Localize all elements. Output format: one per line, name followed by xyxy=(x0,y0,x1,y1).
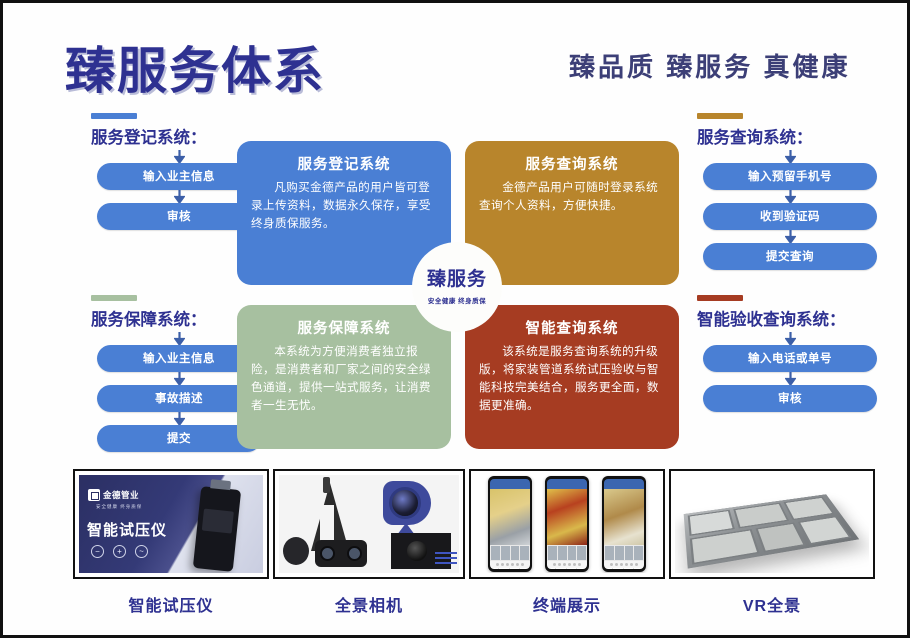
photo-smart-pressure-tester: 金德管业 安全健康 终身质保 智能试压仪 − + ~ xyxy=(79,475,263,573)
flow-service-registration: 服务登记系统： 输入业主信息 审核 xyxy=(91,113,261,230)
photo-vr-panorama xyxy=(675,475,869,573)
card-title: 智能查询系统 xyxy=(479,317,665,338)
card-service-query[interactable]: 服务查询系统 金德产品用户可随时登录系统查询个人资料，方便快捷。 xyxy=(465,141,679,285)
flow-step-pill[interactable]: 输入预留手机号 xyxy=(703,163,877,190)
logo-mark-icon xyxy=(88,489,100,501)
tagline: 臻品质 臻服务 真健康 xyxy=(569,47,850,84)
photo-cell-panoramic-camera[interactable]: 全景相机 xyxy=(273,469,465,616)
floorplan-3d-icon xyxy=(684,494,860,568)
tripod-head-icon xyxy=(323,477,330,493)
flow-step-pill[interactable]: 输入电话或单号 xyxy=(703,345,877,372)
poster-canvas: 臻服务体系 臻品质 臻服务 真健康 服务登记系统： 输入业主信息 审核 服务查询… xyxy=(0,0,910,638)
photo-cell-smart-pressure-tester[interactable]: 金德管业 安全健康 终身质保 智能试压仪 − + ~ 智能试压仪 xyxy=(73,469,269,616)
flow-steps: 输入预留手机号 收到验证码 提交查询 xyxy=(703,150,877,270)
phone-mockup xyxy=(545,476,589,572)
flow-title: 智能验收查询系统： xyxy=(697,306,877,330)
accent-bar xyxy=(91,113,137,119)
brand-logo: 金德管业 xyxy=(88,489,139,501)
center-brand-badge: 臻服务 安全健康 终身质保 xyxy=(419,249,495,325)
arrow-down-icon xyxy=(703,150,877,163)
arrow-down-icon xyxy=(703,332,877,345)
accent-bar xyxy=(697,113,743,119)
card-body: 凡购买金德产品的用户皆可登录上传资料，数据永久保存，享受终身质保服务。 xyxy=(251,179,437,233)
photo-cell-vr-panorama[interactable]: VR全景 xyxy=(669,469,875,616)
ad-icon-group: − + ~ xyxy=(91,545,148,558)
phone-mockup xyxy=(488,476,532,572)
photo-label: 全景相机 xyxy=(273,592,465,616)
photo-frame xyxy=(469,469,665,579)
center-subtitle: 安全健康 终身质保 xyxy=(428,295,486,305)
ad-headline: 智能试压仪 xyxy=(87,519,167,540)
center-title: 臻服务 xyxy=(427,270,487,289)
card-body: 金德产品用户可随时登录系统查询个人资料，方便快捷。 xyxy=(479,179,665,215)
card-body: 本系统为方便消费者独立报险，是消费者和厂家之间的安全绿色通道，提供一站式服务，让… xyxy=(251,343,437,415)
flow-service-query: 服务查询系统： 输入预留手机号 收到验证码 提交查询 xyxy=(697,113,877,270)
flow-step-pill[interactable]: 收到验证码 xyxy=(703,203,877,230)
card-title: 服务查询系统 xyxy=(479,153,665,174)
photo-frame xyxy=(273,469,465,579)
accent-bar xyxy=(697,295,743,301)
card-body: 该系统是服务查询系统的升级版，将家装管道系统试压验收与智能科技完美结合，服务更全… xyxy=(479,343,665,415)
minus-icon: − xyxy=(91,545,104,558)
card-title: 服务登记系统 xyxy=(251,153,437,174)
photo-frame xyxy=(669,469,875,579)
flow-steps: 输入电话或单号 审核 xyxy=(703,332,877,412)
wave-icon: ~ xyxy=(135,545,148,558)
photo-label: 智能试压仪 xyxy=(73,592,269,616)
flow-smart-acceptance-query: 智能验收查询系统： 输入电话或单号 审核 xyxy=(697,295,877,412)
card-title: 服务保障系统 xyxy=(251,317,437,338)
arrow-down-icon xyxy=(703,230,877,243)
photo-label: 终端展示 xyxy=(469,592,665,616)
accent-bar xyxy=(91,295,137,301)
photo-panoramic-camera xyxy=(279,475,459,573)
photo-terminal-display xyxy=(475,475,659,573)
flow-step-pill[interactable]: 审核 xyxy=(703,385,877,412)
flow-title: 服务查询系统： xyxy=(697,124,877,148)
flow-service-guarantee: 服务保障系统： 输入业主信息 事故描述 提交 xyxy=(91,295,261,452)
device-photo xyxy=(193,486,241,572)
card-service-registration[interactable]: 服务登记系统 凡购买金德产品的用户皆可登录上传资料，数据永久保存，享受终身质保服… xyxy=(237,141,451,285)
arrow-down-icon xyxy=(703,372,877,385)
plus-icon: + xyxy=(113,545,126,558)
panoramic-camera-icon xyxy=(383,481,431,525)
flow-title: 服务登记系统： xyxy=(91,124,261,148)
page-title: 臻服务体系 xyxy=(65,31,325,103)
card-smart-query[interactable]: 智能查询系统 该系统是服务查询系统的升级版，将家装管道系统试压验收与智能科技完美… xyxy=(465,305,679,449)
round-camera-icon xyxy=(283,537,309,565)
arrow-down-icon xyxy=(703,190,877,203)
flow-step-pill[interactable]: 提交查询 xyxy=(703,243,877,270)
card-service-guarantee[interactable]: 服务保障系统 本系统为方便消费者独立报险，是消费者和厂家之间的安全绿色通道，提供… xyxy=(237,305,451,449)
photo-frame: 金德管业 安全健康 终身质保 智能试压仪 − + ~ xyxy=(73,469,269,579)
photo-label: VR全景 xyxy=(669,592,875,616)
phone-mockup xyxy=(602,476,646,572)
vr-headset-icon xyxy=(315,540,367,567)
photo-cell-terminal-display[interactable]: 终端展示 xyxy=(469,469,665,616)
brand-name: 金德管业 xyxy=(103,489,139,501)
flow-title: 服务保障系统： xyxy=(91,306,261,330)
brand-slogan: 安全健康 终身质保 xyxy=(96,504,142,510)
